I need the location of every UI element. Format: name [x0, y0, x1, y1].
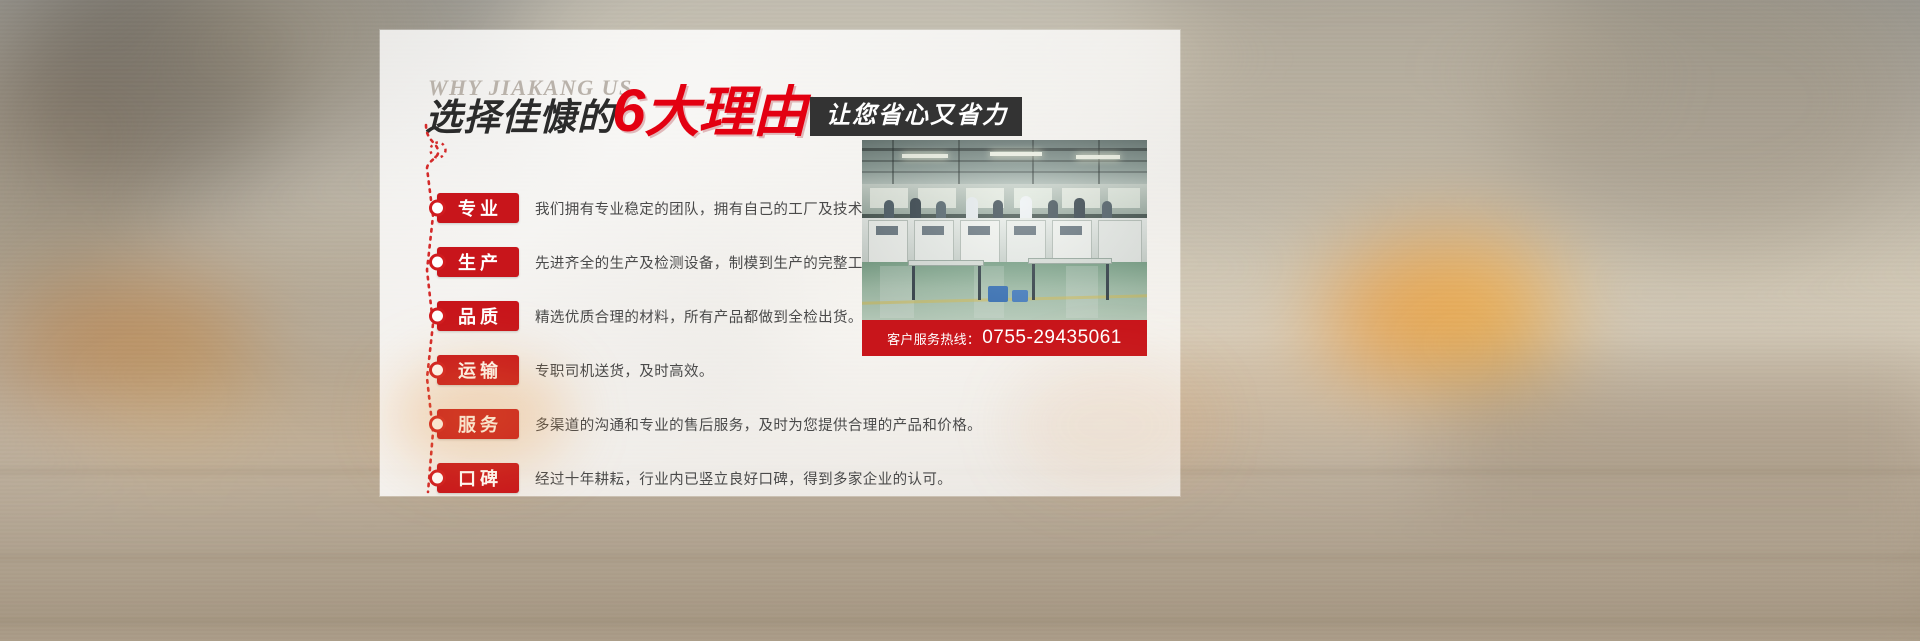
reason-badge: 品质 — [437, 301, 519, 331]
reason-description: 我们拥有专业稳定的团队，拥有自己的工厂及技术。 — [535, 198, 878, 219]
content-panel: WHY JIAKANG US 选择佳慷的 6大理由 让您省心又省力 专业 我们拥… — [380, 30, 1180, 496]
reason-badge: 专业 — [437, 193, 519, 223]
reason-badge: 运输 — [437, 355, 519, 385]
reason-badge: 服务 — [437, 409, 519, 439]
reason-description: 经过十年耕耘，行业内已竖立良好口碑，得到多家企业的认可。 — [535, 468, 952, 489]
list-item[interactable]: 品质 精选优质合理的材料，所有产品都做到全检出货。 — [437, 301, 863, 331]
hotline-number: 0755-29435061 — [982, 327, 1122, 349]
list-item[interactable]: 专业 我们拥有专业稳定的团队，拥有自己的工厂及技术。 — [437, 193, 878, 223]
reason-badge: 口碑 — [437, 463, 519, 493]
list-item[interactable]: 口碑 经过十年耕耘，行业内已竖立良好口碑，得到多家企业的认可。 — [437, 463, 952, 493]
reason-description: 精选优质合理的材料，所有产品都做到全检出货。 — [535, 306, 863, 327]
reason-description: 先进齐全的生产及检测设备，制模到生产的完整工艺。 — [535, 252, 893, 273]
list-item[interactable]: 生产 先进齐全的生产及检测设备，制模到生产的完整工艺。 — [437, 247, 893, 277]
factory-photo — [862, 140, 1147, 320]
list-item[interactable]: 运输 专职司机送货，及时高效。 — [437, 355, 714, 385]
hotline-bar[interactable]: 客户服务热线： 0755-29435061 — [862, 320, 1147, 356]
list-item[interactable]: 服务 多渠道的沟通和专业的售后服务，及时为您提供合理的产品和价格。 — [437, 409, 982, 439]
reason-description: 专职司机送货，及时高效。 — [535, 360, 714, 381]
reason-description: 多渠道的沟通和专业的售后服务，及时为您提供合理的产品和价格。 — [535, 414, 982, 435]
hotline-label: 客户服务热线： — [887, 329, 980, 348]
reason-badge: 生产 — [437, 247, 519, 277]
